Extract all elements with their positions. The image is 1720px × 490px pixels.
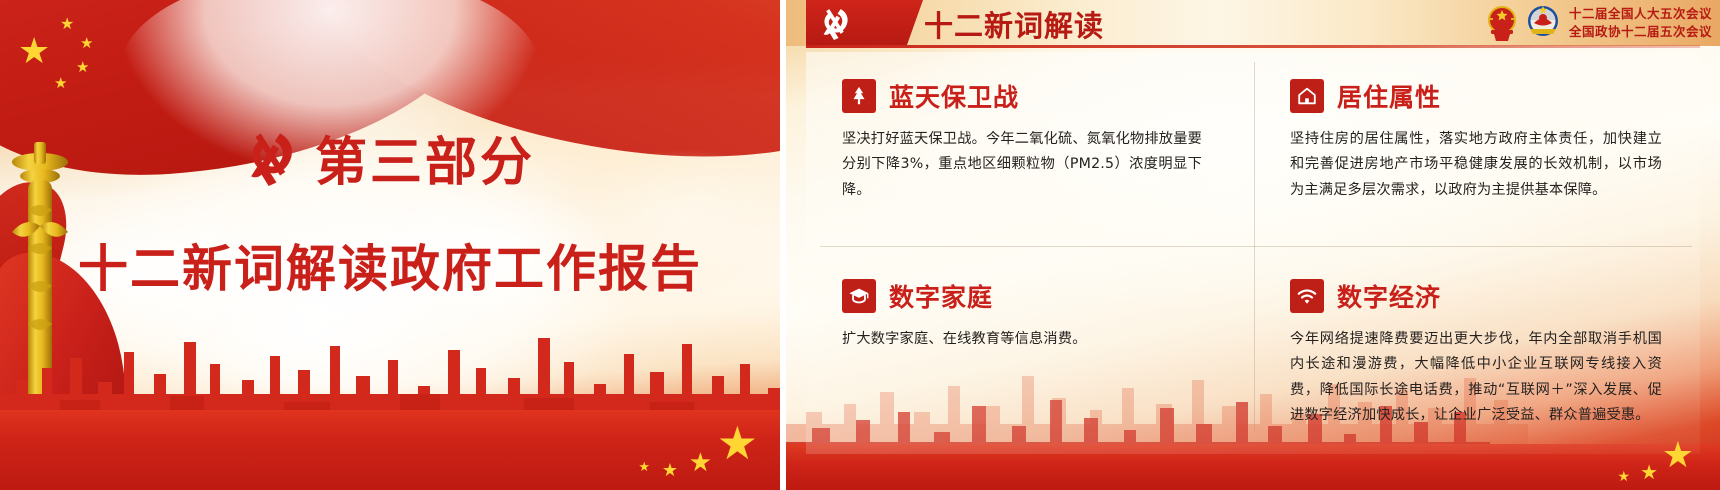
- cppcc-emblem-icon: [1525, 3, 1561, 43]
- conference-line-1: 十二届全国人大五次会议: [1569, 6, 1712, 23]
- tree-icon: [842, 79, 876, 113]
- party-emblem-icon: [820, 7, 853, 40]
- flag-stars-group: ★ ★ ★ ★ ★: [18, 14, 138, 90]
- star-icon: ★: [638, 461, 650, 474]
- cell-header: 数字家庭: [842, 278, 1226, 314]
- cell-title: 数字家庭: [889, 278, 993, 314]
- star-icon: ★: [60, 16, 74, 32]
- cell-header: 数字经济: [1290, 278, 1670, 314]
- star-icon: ★: [662, 462, 678, 480]
- cell-body: 坚决打好蓝天保卫战。今年二氧化硫、氮氧化物排放量要分别下降3%，重点地区细颗粒物…: [842, 127, 1202, 203]
- left-part-heading: 第三部分: [0, 120, 780, 195]
- content-slide: ★ ★ ★ 十二新词解读: [786, 0, 1720, 490]
- slide-header: 十二新词解读: [786, 0, 1720, 52]
- conference-logo-text: 十二届全国人大五次会议 全国政协十二届五次会议: [1566, 6, 1712, 41]
- party-emblem-icon: [245, 130, 301, 186]
- star-icon: ★: [1617, 470, 1630, 484]
- cell-header: 居住属性: [1290, 78, 1670, 114]
- content-cell-digital-economy: 数字经济 今年网络提速降费要迈出更大步伐，年内全部取消手机国内长途和漫游费，大幅…: [1256, 256, 1700, 456]
- title-slide: ★ ★ ★ ★ ★: [0, 0, 780, 490]
- cell-title: 数字经济: [1337, 278, 1441, 314]
- conference-line-2: 全国政协十二届五次会议: [1569, 24, 1712, 41]
- wifi-icon: [1290, 279, 1324, 313]
- slide-deck: ★ ★ ★ ★ ★: [0, 0, 1720, 490]
- content-cell-digital-family: 数字家庭 扩大数字家庭、在线教育等信息消费。: [812, 256, 1256, 456]
- star-icon: ★: [76, 60, 89, 75]
- star-icon: ★: [1640, 462, 1658, 482]
- national-emblem-icon: [1484, 3, 1520, 43]
- home-icon: [1290, 79, 1324, 113]
- star-icon: ★: [54, 76, 67, 91]
- content-cell-housing: 居住属性 坚持住房的居住属性，落实地方政府主体责任，加快建立和完善促进房地产市场…: [1256, 56, 1700, 256]
- right-bottom-stars: ★ ★ ★: [1548, 430, 1698, 484]
- cell-body: 扩大数字家庭、在线教育等信息消费。: [842, 327, 1202, 352]
- star-icon: ★: [18, 34, 50, 70]
- left-part-heading-text: 第三部分: [315, 120, 535, 195]
- graduation-cap-icon: [842, 279, 876, 313]
- star-icon: ★: [1662, 438, 1694, 474]
- cell-title: 蓝天保卫战: [889, 78, 1019, 114]
- left-main-title: 十二新词解读政府工作报告: [0, 229, 780, 301]
- left-bottom-stars: ★ ★ ★ ★: [582, 410, 762, 480]
- left-city-skyline: [0, 298, 780, 428]
- star-icon: ★: [80, 36, 93, 51]
- star-icon: ★: [689, 450, 712, 476]
- cell-title: 居住属性: [1337, 78, 1441, 114]
- left-title-block: 第三部分 十二新词解读政府工作报告: [0, 120, 780, 301]
- star-icon: ★: [717, 420, 758, 466]
- cell-body: 今年网络提速降费要迈出更大步伐，年内全部取消手机国内长途和漫游费，大幅降低中小企…: [1290, 327, 1662, 428]
- content-cell-blue-sky: 蓝天保卫战 坚决打好蓝天保卫战。今年二氧化硫、氮氧化物排放量要分别下降3%，重点…: [812, 56, 1256, 256]
- content-grid: 蓝天保卫战 坚决打好蓝天保卫战。今年二氧化硫、氮氧化物排放量要分别下降3%，重点…: [812, 56, 1700, 456]
- header-underline: [806, 45, 1700, 48]
- header-title: 十二新词解读: [924, 3, 1104, 45]
- cell-header: 蓝天保卫战: [842, 78, 1226, 114]
- conference-logos: 十二届全国人大五次会议 全国政协十二届五次会议: [1484, 3, 1712, 43]
- cell-body: 坚持住房的居住属性，落实地方政府主体责任，加快建立和完善促进房地产市场平稳健康发…: [1290, 127, 1662, 203]
